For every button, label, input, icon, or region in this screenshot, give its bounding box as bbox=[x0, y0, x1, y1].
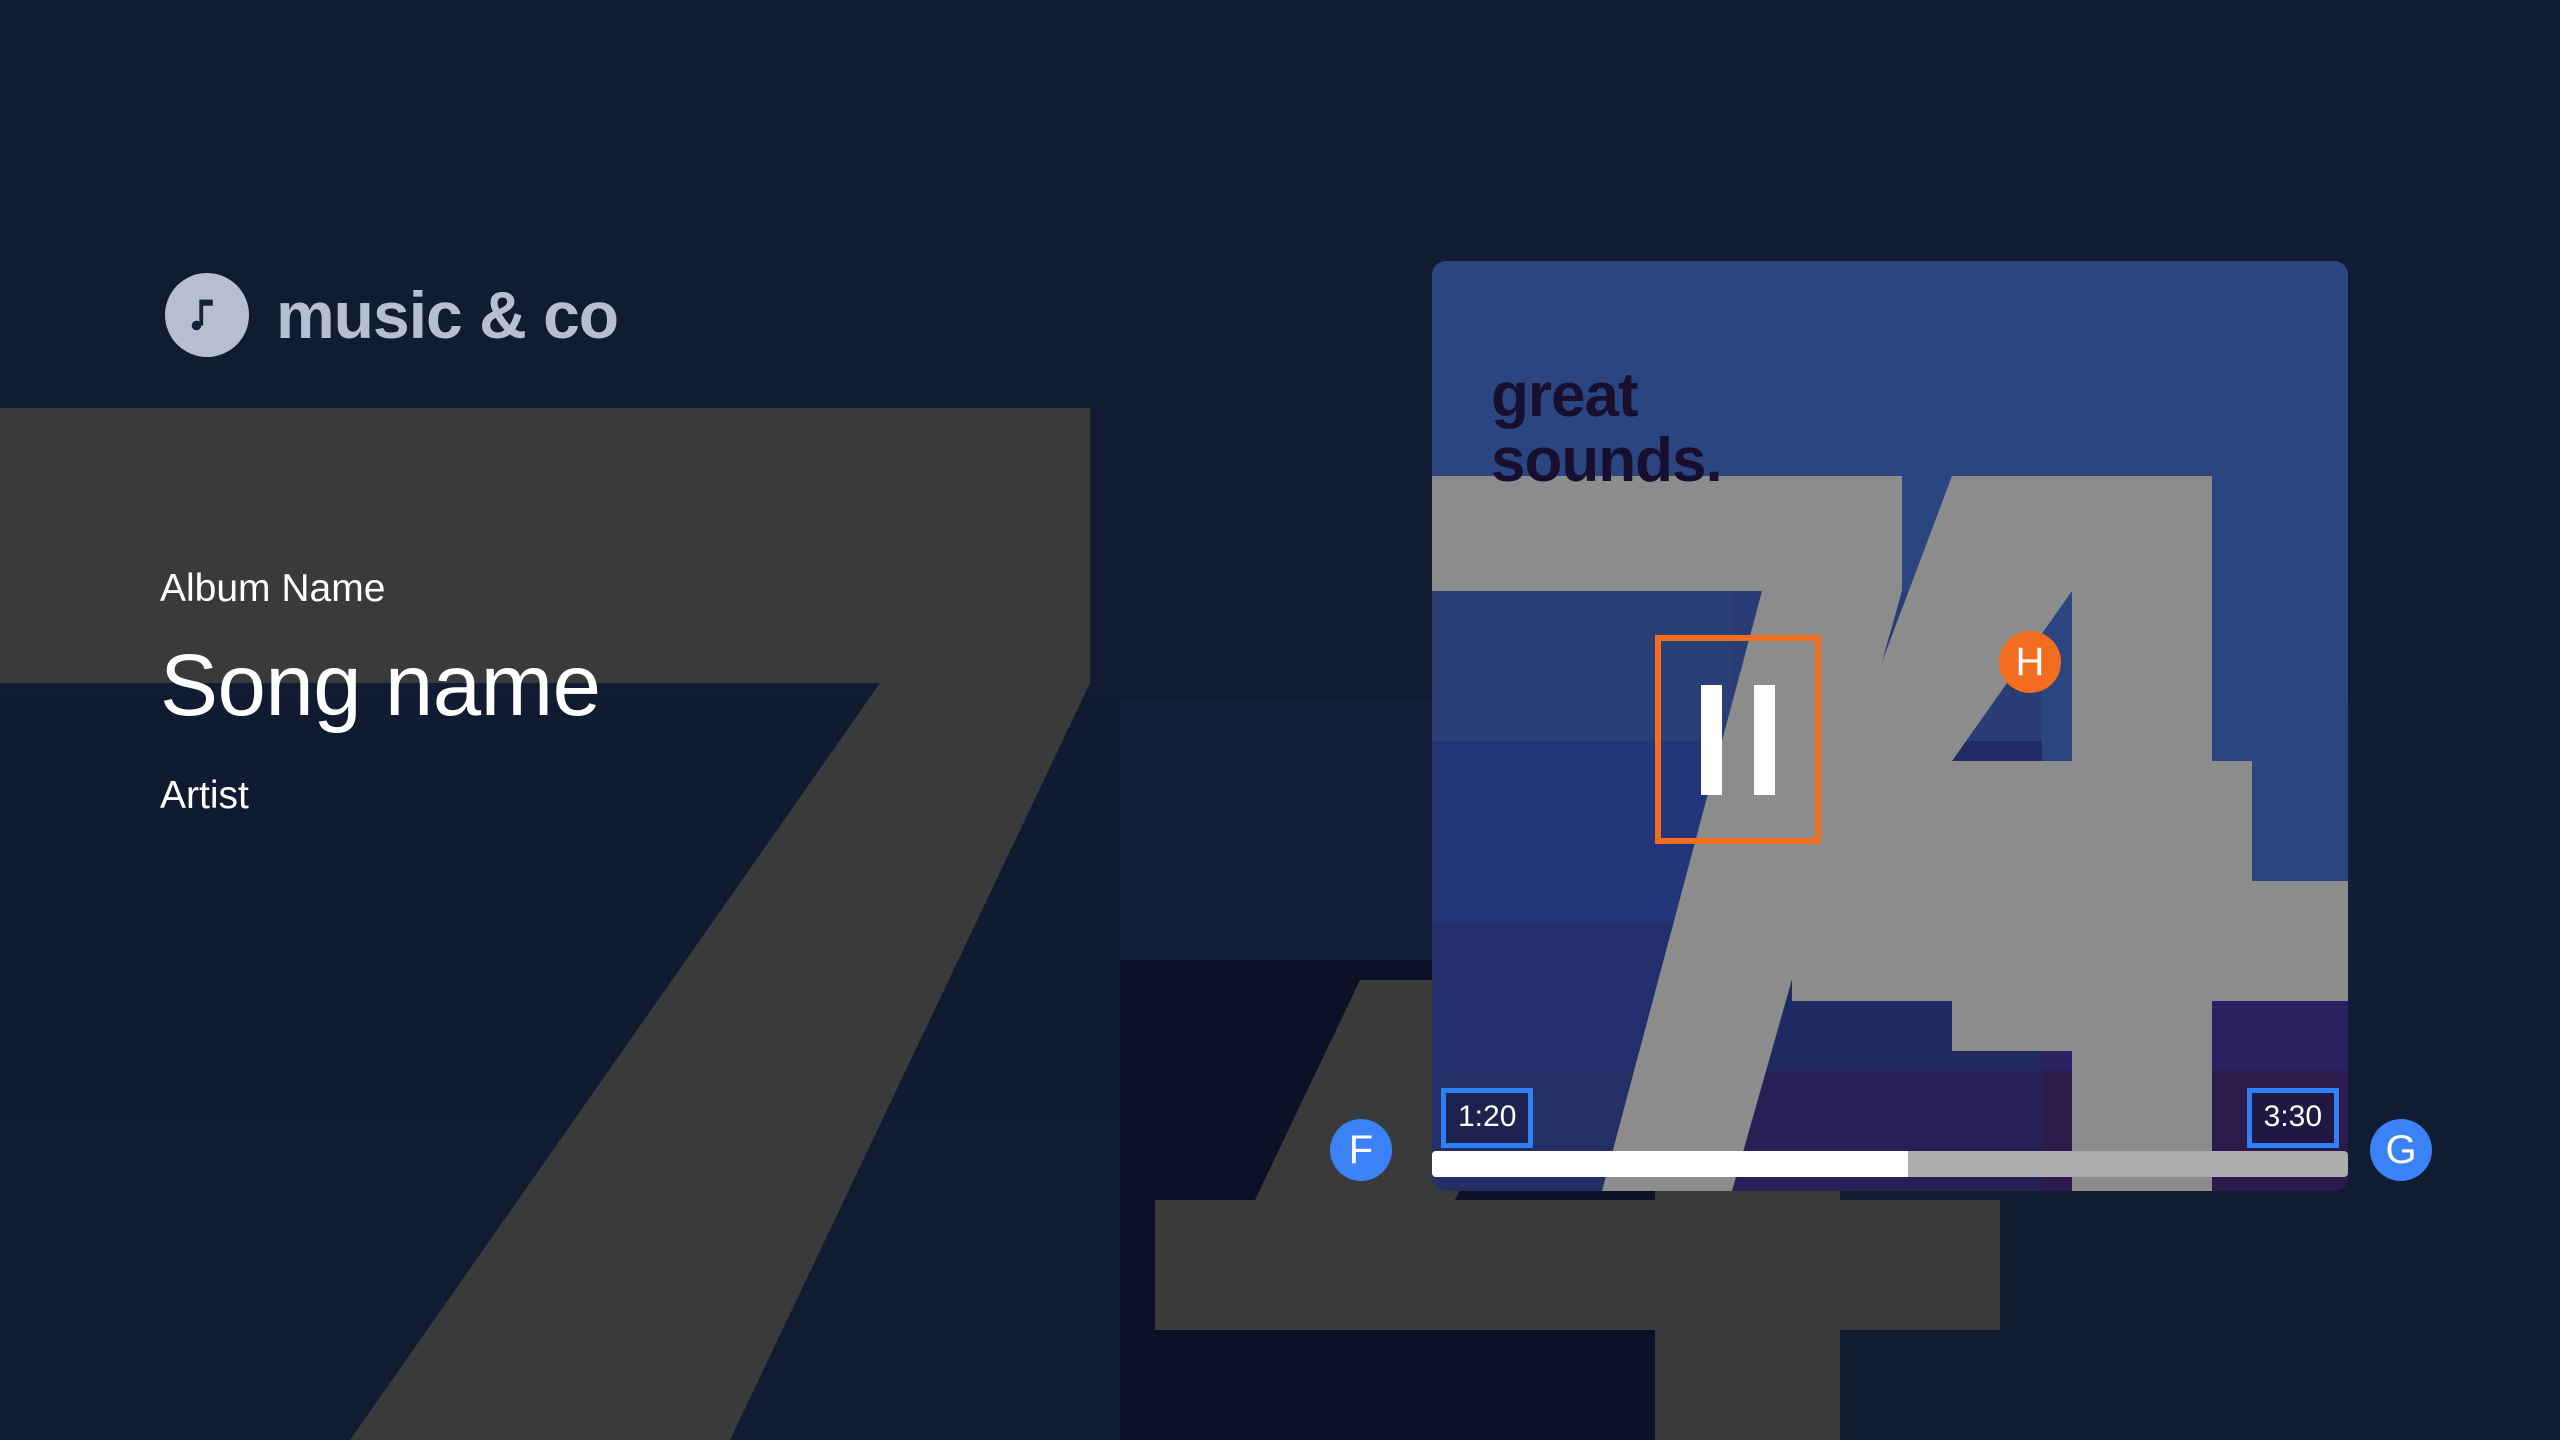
album-art-card[interactable]: great sounds. 1:20 3:30 bbox=[1432, 261, 2348, 1191]
now-playing-info: Album Name Song name Artist bbox=[160, 565, 600, 821]
album-headline-line-1: great bbox=[1491, 361, 1638, 430]
album-headline-line-2: sounds. bbox=[1491, 426, 1722, 495]
progress-track[interactable] bbox=[1432, 1151, 2348, 1177]
pause-icon bbox=[1701, 685, 1722, 795]
brand-logo[interactable]: music & co bbox=[165, 273, 618, 357]
music-player-screen: music & co Album Name Song name Artist bbox=[0, 0, 2560, 1440]
album-headline: great sounds. bbox=[1491, 363, 1722, 493]
brand-name: music & co bbox=[276, 282, 618, 348]
artist-name: Artist bbox=[160, 772, 600, 821]
pause-icon-bar-2 bbox=[1754, 685, 1775, 795]
song-title: Song name bbox=[160, 636, 600, 736]
shortcut-badge-h[interactable]: H bbox=[1999, 631, 2061, 693]
album-name-label: Album Name bbox=[160, 565, 600, 614]
shortcut-badge-f[interactable]: F bbox=[1330, 1119, 1392, 1181]
progress-fill bbox=[1432, 1151, 1908, 1177]
playback-progress[interactable] bbox=[1432, 1151, 2348, 1177]
shortcut-badge-g[interactable]: G bbox=[2370, 1119, 2432, 1181]
music-note-icon bbox=[165, 273, 249, 357]
pause-button[interactable] bbox=[1655, 635, 1821, 844]
elapsed-time-chip[interactable]: 1:20 bbox=[1441, 1088, 1533, 1148]
total-time-chip[interactable]: 3:30 bbox=[2247, 1088, 2339, 1148]
